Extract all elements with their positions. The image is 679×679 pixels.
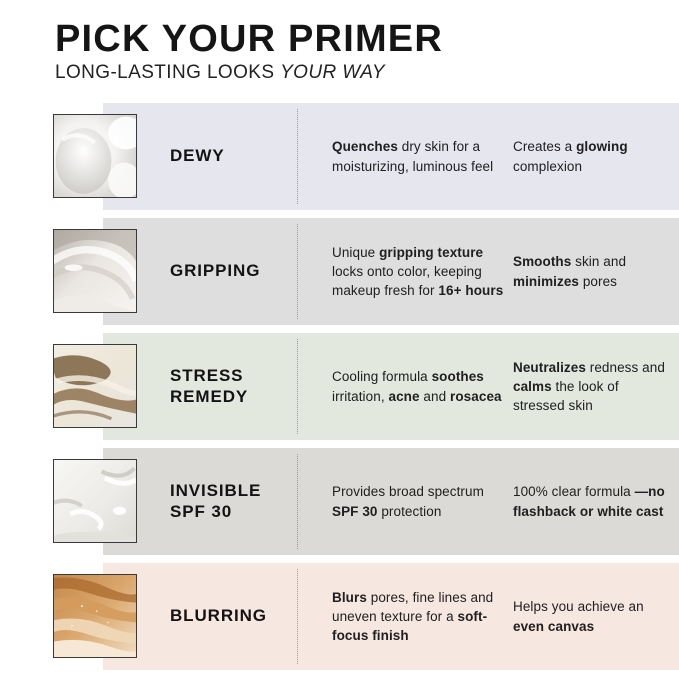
benefit-cell-secondary-dewy: Creates a glowing complexion: [513, 103, 665, 210]
benefit-emphasis: acne: [388, 389, 419, 404]
benefit-secondary-stress-remedy: Neutralizes redness and calms the look o…: [513, 358, 665, 415]
page-subtitle: LONG-LASTING LOOKS YOUR WAY: [55, 63, 679, 84]
stress-remedy-primer-swatch: [53, 344, 137, 428]
column-divider: [297, 569, 299, 664]
benefit-cell-secondary-gripping: Smooths skin and minimizes pores: [513, 218, 665, 325]
gripping-primer-swatch: [53, 229, 137, 313]
benefit-secondary-blurring: Helps you achieve an even canvas: [513, 597, 665, 635]
primer-name-cell-stress-remedy: STRESSREMEDY: [170, 333, 290, 440]
page-header: PICK YOUR PRIMER LONG-LASTING LOOKS YOUR…: [0, 0, 679, 84]
benefit-plain: Cooling formula: [332, 369, 432, 384]
primer-row-gripping[interactable]: GRIPPING Unique gripping texture locks o…: [0, 218, 679, 325]
benefit-emphasis: SPF 30: [332, 504, 378, 519]
benefit-cell-primary-invisible-spf-30: Provides broad spectrum SPF 30 protectio…: [332, 448, 507, 555]
benefit-cell-primary-blurring: Blurs pores, fine lines and uneven textu…: [332, 563, 507, 670]
benefit-primary-blurring: Blurs pores, fine lines and uneven textu…: [332, 588, 507, 645]
subtitle-italic-text: YOUR WAY: [280, 62, 385, 83]
benefit-primary-dewy: Quenches dry skin for a moisturizing, lu…: [332, 137, 507, 175]
column-divider: [297, 454, 299, 549]
primer-row-blurring[interactable]: BLURRING Blurs pores, fine lines and une…: [0, 563, 679, 670]
primer-comparison-table: DEWY Quenches dry skin for a moisturizin…: [0, 103, 679, 670]
benefit-emphasis: rosacea: [450, 389, 502, 404]
benefit-primary-stress-remedy: Cooling formula soothes irritation, acne…: [332, 367, 507, 405]
primer-name-stress-remedy: STRESSREMEDY: [170, 366, 248, 407]
benefit-cell-primary-stress-remedy: Cooling formula soothes irritation, acne…: [332, 333, 507, 440]
benefit-plain: protection: [378, 504, 442, 519]
benefit-plain: Creates a: [513, 139, 576, 154]
benefit-cell-primary-gripping: Unique gripping texture locks onto color…: [332, 218, 507, 325]
primer-name-cell-dewy: DEWY: [170, 103, 290, 210]
benefit-emphasis: glowing: [576, 139, 628, 154]
benefit-emphasis: Neutralizes: [513, 360, 586, 375]
benefit-plain: Unique: [332, 245, 379, 260]
benefit-emphasis: Quenches: [332, 139, 398, 154]
benefit-emphasis: even canvas: [513, 619, 594, 634]
primer-name-gripping: GRIPPING: [170, 261, 260, 282]
benefit-secondary-dewy: Creates a glowing complexion: [513, 137, 665, 175]
primer-name-blurring: BLURRING: [170, 606, 267, 627]
benefit-emphasis: gripping texture: [379, 245, 483, 260]
column-divider: [297, 224, 299, 319]
benefit-plain: Helps you achieve an: [513, 599, 644, 614]
primer-row-stress-remedy[interactable]: STRESSREMEDY Cooling formula soothes irr…: [0, 333, 679, 440]
benefit-cell-secondary-stress-remedy: Neutralizes redness and calms the look o…: [513, 333, 665, 440]
primer-name-cell-blurring: BLURRING: [170, 563, 290, 670]
benefit-emphasis: Blurs: [332, 590, 367, 605]
primer-name-cell-invisible-spf-30: INVISIBLESPF 30: [170, 448, 290, 555]
blurring-primer-swatch: [53, 574, 137, 658]
benefit-cell-primary-dewy: Quenches dry skin for a moisturizing, lu…: [332, 103, 507, 210]
benefit-plain: irritation,: [332, 389, 388, 404]
dewy-primer-swatch: [53, 114, 137, 198]
benefit-cell-secondary-invisible-spf-30: 100% clear formula —no flashback or whit…: [513, 448, 665, 555]
benefit-plain: complexion: [513, 159, 582, 174]
benefit-emphasis: calms: [513, 379, 552, 394]
benefit-cell-secondary-blurring: Helps you achieve an even canvas: [513, 563, 665, 670]
benefit-plain: and: [420, 389, 450, 404]
subtitle-regular-text: LONG-LASTING LOOKS: [55, 62, 280, 83]
benefit-plain: 100% clear formula: [513, 484, 635, 499]
primer-name-cell-gripping: GRIPPING: [170, 218, 290, 325]
benefit-plain: pores: [579, 274, 617, 289]
benefit-emphasis: Smooths: [513, 254, 571, 269]
column-divider: [297, 339, 299, 434]
benefit-primary-invisible-spf-30: Provides broad spectrum SPF 30 protectio…: [332, 482, 507, 520]
primer-row-dewy[interactable]: DEWY Quenches dry skin for a moisturizin…: [0, 103, 679, 210]
benefit-primary-gripping: Unique gripping texture locks onto color…: [332, 243, 507, 300]
benefit-emphasis: soothes: [432, 369, 484, 384]
benefit-secondary-invisible-spf-30: 100% clear formula —no flashback or whit…: [513, 482, 665, 520]
primer-name-dewy: DEWY: [170, 146, 225, 167]
benefit-plain: skin and: [571, 254, 626, 269]
primer-name-invisible-spf-30: INVISIBLESPF 30: [170, 481, 261, 522]
benefit-plain: Provides broad spectrum: [332, 484, 484, 499]
page-title: PICK YOUR PRIMER: [55, 20, 679, 59]
primer-row-invisible-spf-30[interactable]: INVISIBLESPF 30 Provides broad spectrum …: [0, 448, 679, 555]
benefit-emphasis: minimizes: [513, 274, 579, 289]
benefit-secondary-gripping: Smooths skin and minimizes pores: [513, 252, 665, 290]
invisible-spf-primer-swatch: [53, 459, 137, 543]
benefit-plain: redness and: [586, 360, 665, 375]
column-divider: [297, 109, 299, 204]
benefit-emphasis: 16+ hours: [438, 283, 503, 298]
